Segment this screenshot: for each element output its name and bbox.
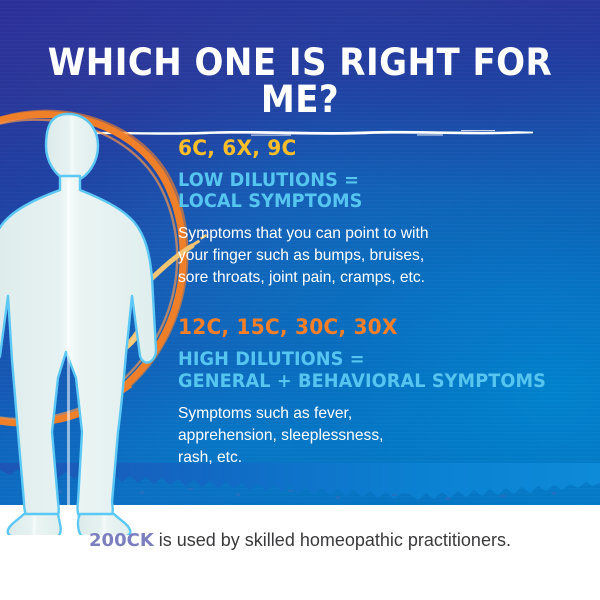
body-text-high: Symptoms such as fever, apprehension, sl… [178,403,578,469]
body-low-line-3: sore throats, joint pain, cramps, etc. [178,267,578,289]
content-column: 6C, 6X, 9C LOW DILUTIONS = LOCAL SYMPTOM… [178,136,578,469]
body-high-line-3: rash, etc. [178,447,578,469]
footer-note: 200CK is used by skilled homeopathic pra… [0,530,600,551]
subheading-low-line-2: LOCAL SYMPTOMS [178,191,560,213]
body-low-line-1: Symptoms that you can point to with [178,223,578,245]
subheading-high-line-2: GENERAL + BEHAVIORAL SYMPTOMS [178,371,560,393]
subheading-high: HIGH DILUTIONS = GENERAL + BEHAVIORAL SY… [178,349,560,392]
body-text-low: Symptoms that you can point to with your… [178,223,578,289]
subheading-high-line-1: HIGH DILUTIONS = [178,349,560,371]
footer-dose-code: 200CK [89,530,154,551]
body-high-line-1: Symptoms such as fever, [178,403,578,425]
body-low-line-2: your finger such as bumps, bruises, [178,245,578,267]
footer-text: is used by skilled homeopathic practitio… [154,530,511,550]
subheading-low: LOW DILUTIONS = LOCAL SYMPTOMS [178,170,560,213]
subheading-low-line-1: LOW DILUTIONS = [178,170,560,192]
section-high-dilutions: 12C, 15C, 30C, 30X HIGH DILUTIONS = GENE… [178,315,578,468]
dose-label-low: 6C, 6X, 9C [178,136,562,161]
section-low-dilutions: 6C, 6X, 9C LOW DILUTIONS = LOCAL SYMPTOM… [178,136,578,289]
body-high-line-2: apprehension, sleeplessness, [178,425,578,447]
dose-label-high: 12C, 15C, 30C, 30X [178,315,562,340]
section-spacer [178,289,578,315]
infographic-poster: WHICH ONE IS RIGHT FOR ME? [0,0,600,600]
